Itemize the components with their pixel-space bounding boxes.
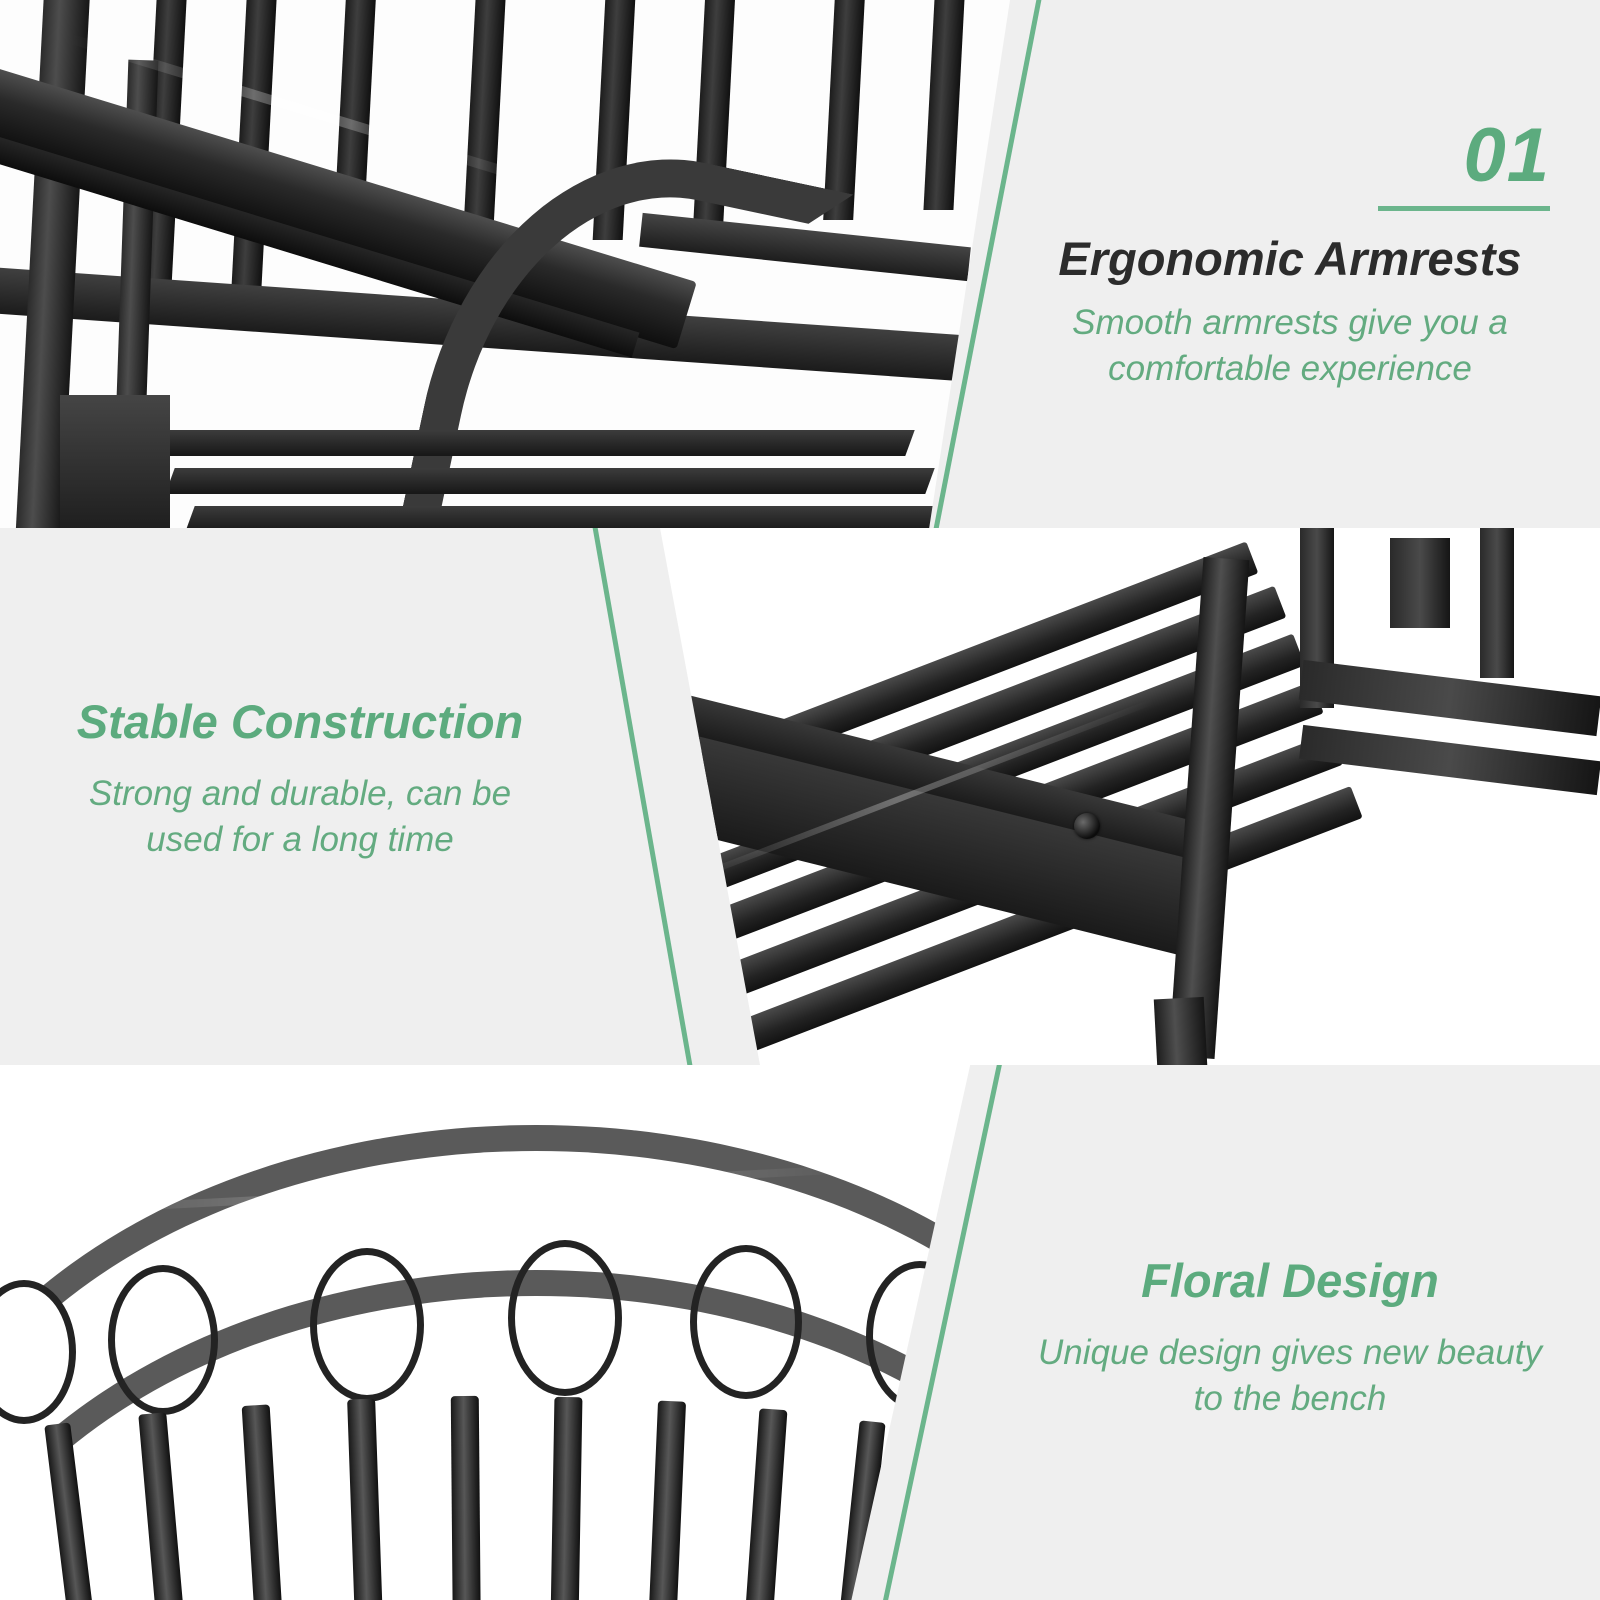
feature-panel-ergonomic-armrests: 01 Ergonomic Armrests Smooth armrests gi… (0, 0, 1600, 528)
panel-3-text: Floral Design Unique design gives new be… (1010, 1255, 1570, 1423)
panel-3-subtitle-line-1: Unique design gives new beauty (1010, 1330, 1570, 1377)
panel-1-badge-rule (1378, 206, 1550, 211)
backrest-rings-photo-art (0, 1065, 990, 1600)
product-feature-infographic: 01 Ergonomic Armrests Smooth armrests gi… (0, 0, 1600, 1600)
seat-bolt (1074, 813, 1100, 839)
panel-1-subtitle-line-2: comfortable experience (1030, 346, 1550, 393)
panel-1-text: 01 Ergonomic Armrests Smooth armrests gi… (1030, 118, 1550, 393)
panel-2-title: Stable Construction (40, 696, 560, 749)
panel-3-subtitle: Unique design gives new beauty to the be… (1010, 1330, 1570, 1423)
panel-2-text: Stable Construction Strong and durable, … (40, 696, 560, 864)
panel-1-badge-number: 01 (1030, 118, 1550, 194)
armrest-photo-art (0, 0, 1010, 528)
seat-construction-photo-art (600, 528, 1600, 1065)
panel-3-subtitle-line-2: to the bench (1010, 1376, 1570, 1423)
panel-3-photo (0, 1065, 990, 1600)
panel-2-photo (600, 528, 1600, 1065)
panel-1-subtitle-line-1: Smooth armrests give you a (1030, 300, 1550, 347)
panel-3-title: Floral Design (1010, 1255, 1570, 1308)
feature-panel-floral-design: Floral Design Unique design gives new be… (0, 1065, 1600, 1600)
panel-2-subtitle-line-2: used for a long time (40, 817, 560, 864)
panel-1-subtitle: Smooth armrests give you a comfortable e… (1030, 300, 1550, 393)
panel-1-title: Ergonomic Armrests (1030, 233, 1550, 286)
feature-panel-stable-construction: Stable Construction Strong and durable, … (0, 528, 1600, 1065)
panel-2-subtitle: Strong and durable, can be used for a lo… (40, 771, 560, 864)
panel-1-photo (0, 0, 1010, 528)
panel-2-subtitle-line-1: Strong and durable, can be (40, 771, 560, 818)
panel-1-badge: 01 (1030, 118, 1550, 211)
